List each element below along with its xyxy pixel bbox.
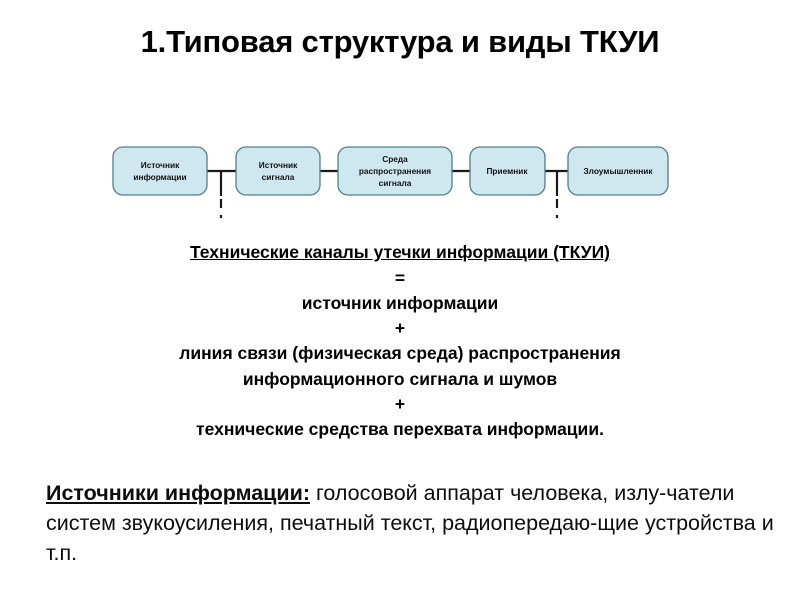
node-label-line-1: Источник xyxy=(259,160,298,170)
structure-diagram: Источник информации Источник сигнала Сре… xyxy=(0,68,800,218)
formula-line-plus-sign-1: + xyxy=(0,316,800,341)
formula-line-definition-heading: Технические каналы утечки информации (ТК… xyxy=(0,240,800,266)
formula-line-term-1: источник информации xyxy=(0,291,800,317)
page-title: 1.Типовая структура и виды ТКУИ xyxy=(0,24,800,60)
diagram-node-intruder: Злоумышленник xyxy=(568,147,668,195)
formula-line-equals-sign: = xyxy=(0,266,800,291)
node-box xyxy=(113,147,207,195)
node-label-line-3: сигнала xyxy=(379,178,412,188)
diagram-node-source-of-signal: Источник сигнала xyxy=(236,147,320,195)
node-label-line-1: Среда xyxy=(382,154,408,164)
diagram-node-signal-propagation-medium: Среда распространения сигнала xyxy=(338,147,452,195)
node-label-line-1: Источник xyxy=(141,160,180,170)
node-label-line-1: Злоумышленник xyxy=(583,166,653,176)
node-label-line-1: Приемник xyxy=(486,166,528,176)
diagram-node-receiver: Приемник xyxy=(470,147,545,195)
formula-line-plus-sign-2: + xyxy=(0,392,800,417)
slide: 1.Типовая структура и виды ТКУИ xyxy=(0,0,800,600)
node-label-line-2: информации xyxy=(133,172,186,182)
sources-of-information-paragraph: Источники информации: голосовой аппарат … xyxy=(46,478,776,568)
formula-line-term-3: технические средства перехвата информаци… xyxy=(0,417,800,443)
formula-line-term-2: линия связи (физическая среда) распростр… xyxy=(0,341,800,392)
node-label-line-2: распространения xyxy=(359,166,431,176)
sources-of-information-lead: Источники информации: xyxy=(46,481,310,505)
node-label-line-2: сигнала xyxy=(262,172,295,182)
diagram-node-source-of-information: Источник информации xyxy=(113,147,207,195)
formula-block: Технические каналы утечки информации (ТК… xyxy=(0,240,800,443)
node-box xyxy=(236,147,320,195)
